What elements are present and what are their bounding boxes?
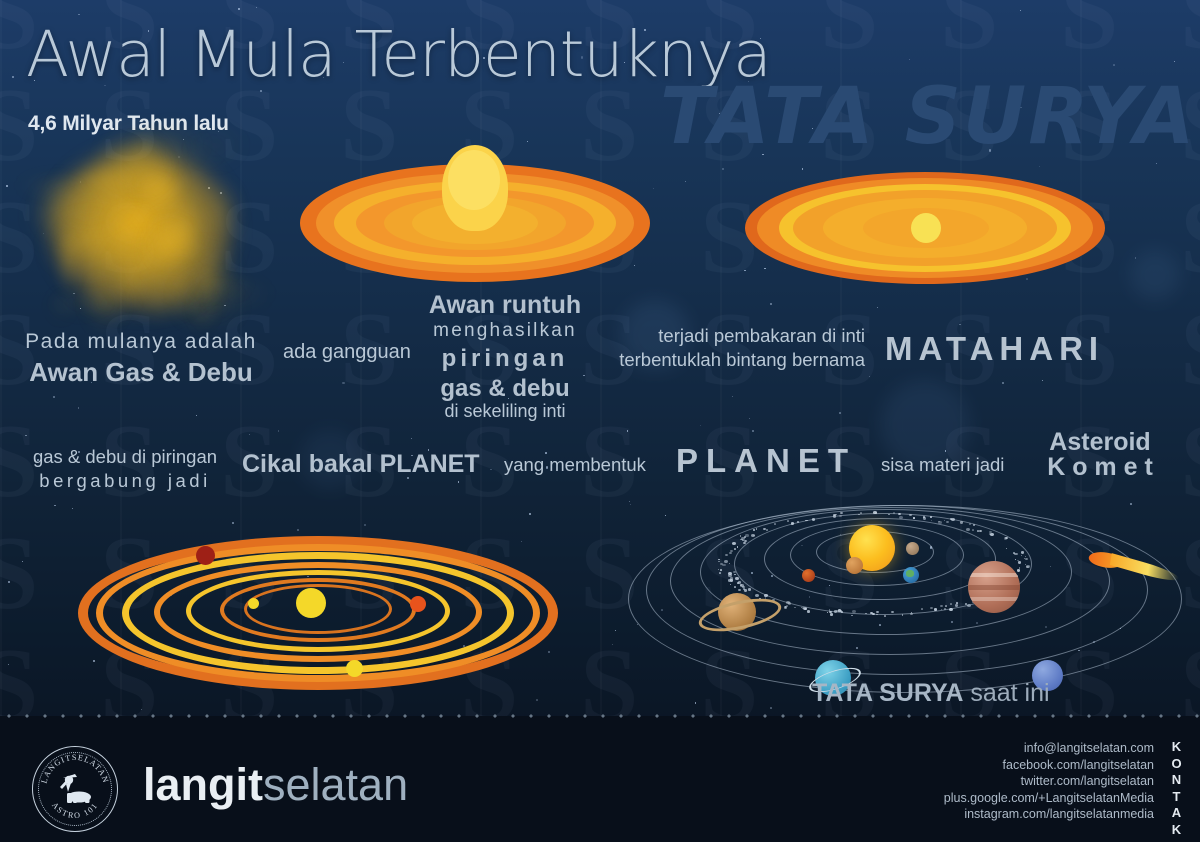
planet-venus	[846, 557, 863, 574]
forming-planet-core	[296, 588, 326, 618]
gas-cloud-wisp	[48, 160, 136, 230]
star	[458, 481, 459, 482]
kontak-letter: O	[1166, 756, 1188, 773]
star	[278, 430, 280, 432]
svg-text:LANGITSELATAN: LANGITSELATAN	[40, 753, 111, 784]
caption-collapse-line3: piringan	[405, 345, 605, 373]
asteroid	[794, 607, 796, 608]
watermark-glyph: S	[1180, 306, 1200, 392]
asteroid	[756, 528, 757, 529]
gas-cloud-wisp	[196, 274, 276, 313]
star	[869, 376, 870, 377]
asteroid	[955, 604, 958, 607]
asteroid	[884, 615, 886, 617]
kontak-letter: T	[1166, 789, 1188, 806]
asteroid	[923, 516, 925, 518]
star	[1042, 380, 1043, 381]
gas-cloud-wisp	[49, 288, 73, 324]
asteroid	[893, 512, 895, 513]
star	[411, 438, 412, 439]
asteroid	[960, 521, 963, 524]
star	[1156, 163, 1157, 164]
asteroid	[732, 542, 736, 545]
star	[53, 396, 55, 398]
caption-collapse-line2: menghasilkan	[405, 320, 605, 342]
contact-line[interactable]: facebook.com/langitselatan	[944, 757, 1154, 774]
watermark-glyph: S	[1060, 0, 1118, 56]
gas-cloud-illustration	[10, 110, 280, 340]
star	[722, 168, 723, 169]
asteroid	[755, 594, 759, 597]
svg-text:ASTRO 101: ASTRO 101	[50, 801, 100, 821]
kontak-label-vertical: KONTAK	[1166, 739, 1188, 839]
star	[490, 469, 492, 471]
asteroid	[875, 512, 878, 514]
star	[1039, 166, 1040, 167]
forming-planet-red	[196, 546, 215, 565]
asteroid	[729, 552, 732, 554]
star	[770, 707, 772, 709]
caption-debris-line2: K o m e t	[1015, 453, 1185, 482]
caption-present-bold: TATA SURYA	[812, 679, 963, 707]
star	[802, 168, 803, 169]
asteroid	[835, 514, 836, 515]
star	[78, 407, 79, 408]
star	[8, 581, 10, 583]
asteroid	[804, 608, 807, 610]
star	[196, 415, 197, 416]
star	[615, 630, 616, 631]
caption-planet: PLANET	[676, 442, 856, 480]
nebula-glow	[1130, 250, 1180, 300]
asteroid	[938, 521, 940, 522]
star	[630, 504, 631, 505]
watermark-glyph: S	[820, 0, 878, 56]
asteroid	[1018, 561, 1021, 564]
seal-centaur-icon: LANGITSELATAN ASTRO 101	[33, 747, 117, 831]
protoplanetary-disk-illustration	[300, 140, 650, 300]
asteroid	[718, 559, 720, 560]
asteroid	[797, 521, 799, 522]
star	[72, 508, 73, 509]
asteroid	[891, 611, 894, 613]
star	[1174, 61, 1175, 62]
star	[839, 412, 840, 413]
contact-line[interactable]: instagram.com/langitselatanmedia	[944, 806, 1154, 823]
page-title: Awal Mula Terbentuknya	[26, 18, 771, 91]
caption-cloud-line1: Pada mulanya adalah	[12, 330, 270, 354]
caption-collapse-line5: di sekeliling inti	[405, 401, 605, 422]
asteroid	[973, 524, 975, 525]
star	[54, 505, 55, 506]
asteroid	[902, 614, 903, 615]
forming-planet-yellow	[346, 660, 363, 677]
asteroid	[838, 609, 841, 611]
asteroid	[719, 572, 721, 574]
star	[612, 644, 613, 645]
contact-line[interactable]: twitter.com/langitselatan	[944, 773, 1154, 790]
star	[653, 188, 654, 189]
asteroid	[909, 514, 912, 516]
caption-collapse-line1: Awan runtuh	[405, 291, 605, 320]
star	[25, 435, 26, 436]
gas-cloud-wisp	[82, 269, 126, 338]
star	[78, 14, 79, 15]
planet-mercury	[906, 542, 919, 555]
asteroid	[858, 514, 860, 515]
star	[685, 181, 686, 182]
watermark-glyph: S	[1180, 0, 1200, 56]
asteroid	[830, 613, 833, 615]
asteroid	[930, 516, 932, 518]
asteroid	[876, 611, 879, 613]
asteroid	[851, 615, 852, 616]
star	[529, 513, 531, 515]
brand-wordmark: langitselatan	[143, 759, 408, 811]
star	[536, 699, 538, 701]
asteroid	[774, 523, 777, 525]
planet-earth-land	[906, 570, 914, 577]
star-ignition-disk-illustration	[745, 172, 1105, 284]
star	[909, 59, 910, 60]
brand-light: selatan	[263, 759, 408, 810]
asteroid	[748, 588, 751, 590]
star	[1002, 382, 1004, 384]
contact-line[interactable]: plus.google.com/+LangitselatanMedia	[944, 790, 1154, 807]
star	[22, 561, 23, 562]
asteroid	[966, 528, 970, 531]
langitselatan-seal-logo: LANGITSELATAN ASTRO 101	[32, 746, 118, 832]
asteroid	[934, 608, 937, 610]
star	[256, 7, 257, 8]
asteroid	[972, 529, 974, 531]
star	[342, 382, 344, 384]
caption-fusion-line2: terbentuklah bintang bernama	[600, 349, 865, 371]
asteroid	[834, 610, 837, 613]
star	[627, 430, 629, 432]
asteroid	[956, 602, 958, 604]
star	[752, 430, 754, 432]
planet-mars	[802, 569, 815, 582]
star	[770, 303, 772, 305]
watermark-glyph: S	[0, 530, 38, 616]
brand-bold: langit	[143, 759, 263, 810]
kontak-letter: K	[1166, 739, 1188, 756]
jupiter-bands	[968, 561, 1020, 613]
asteroid	[742, 586, 744, 588]
caption-collapse-line4: gas & debu	[405, 375, 605, 403]
caption-leftover: sisa materi jadi	[881, 454, 1004, 476]
asteroid	[921, 608, 923, 610]
kontak-letter: K	[1166, 822, 1188, 839]
asteroid	[753, 529, 755, 530]
caption-matahari: MATAHARI	[885, 330, 1104, 368]
caption-present-light: saat ini	[970, 679, 1049, 707]
solar-system-illustration	[650, 505, 1200, 705]
asteroid	[812, 518, 815, 521]
caption-accrete-line2: bergabung jadi	[20, 470, 230, 492]
infographic-poster: SSSSSSSSSSSSSSSSSSSSSSSSSSSSSSSSSSSSSSSS…	[0, 0, 1200, 842]
asteroid	[860, 512, 862, 514]
orbit-neptune	[628, 505, 1182, 693]
star	[12, 76, 14, 78]
watermark-glyph: S	[1180, 194, 1200, 280]
watermark-glyph: S	[940, 0, 998, 56]
forming-planet-orange	[410, 596, 426, 612]
asteroid	[743, 542, 746, 544]
caption-forming: yang membentuk	[504, 454, 646, 476]
asteroid	[1017, 569, 1021, 572]
asteroid	[1014, 553, 1017, 555]
caption-disturbance: ada gangguan	[283, 341, 411, 364]
star	[249, 434, 250, 435]
star	[1020, 10, 1021, 11]
star	[877, 307, 878, 308]
star	[8, 664, 9, 665]
caption-cloud-line2: Awan Gas & Debu	[12, 357, 270, 388]
asteroid	[766, 529, 768, 531]
asteroid	[791, 524, 792, 525]
footer-divider	[0, 714, 1200, 718]
caption-fusion-line1: terjadi pembakaran di inti	[600, 325, 865, 347]
contact-list: info@langitselatan.comfacebook.com/langi…	[944, 740, 1154, 823]
star	[749, 418, 750, 419]
kontak-letter: N	[1166, 772, 1188, 789]
asteroid	[786, 601, 790, 604]
caption-accrete-line1: gas & debu di piringan	[20, 446, 230, 468]
caption-protoplanet: Cikal bakal PLANET	[242, 450, 480, 479]
star	[1113, 64, 1115, 66]
gas-cloud-wisp	[148, 221, 193, 263]
asteroid	[965, 603, 967, 604]
big-title-tata-surya: TATA SURYA	[660, 72, 1197, 162]
forming-planet-small-yellow	[248, 598, 259, 609]
asteroid	[1025, 558, 1028, 560]
star	[629, 501, 630, 502]
forming-planets-disk-illustration	[78, 518, 558, 690]
star	[959, 324, 960, 325]
star	[141, 709, 142, 710]
star	[700, 425, 701, 426]
asteroid	[745, 534, 748, 537]
star	[6, 185, 7, 186]
contact-line[interactable]: info@langitselatan.com	[944, 740, 1154, 757]
asteroid	[728, 579, 731, 581]
star	[238, 8, 240, 10]
caption-present-solar-system: TATA SURYA saat ini	[812, 679, 1050, 708]
asteroid	[840, 512, 843, 514]
kontak-letter: A	[1166, 805, 1188, 822]
star	[732, 396, 733, 397]
